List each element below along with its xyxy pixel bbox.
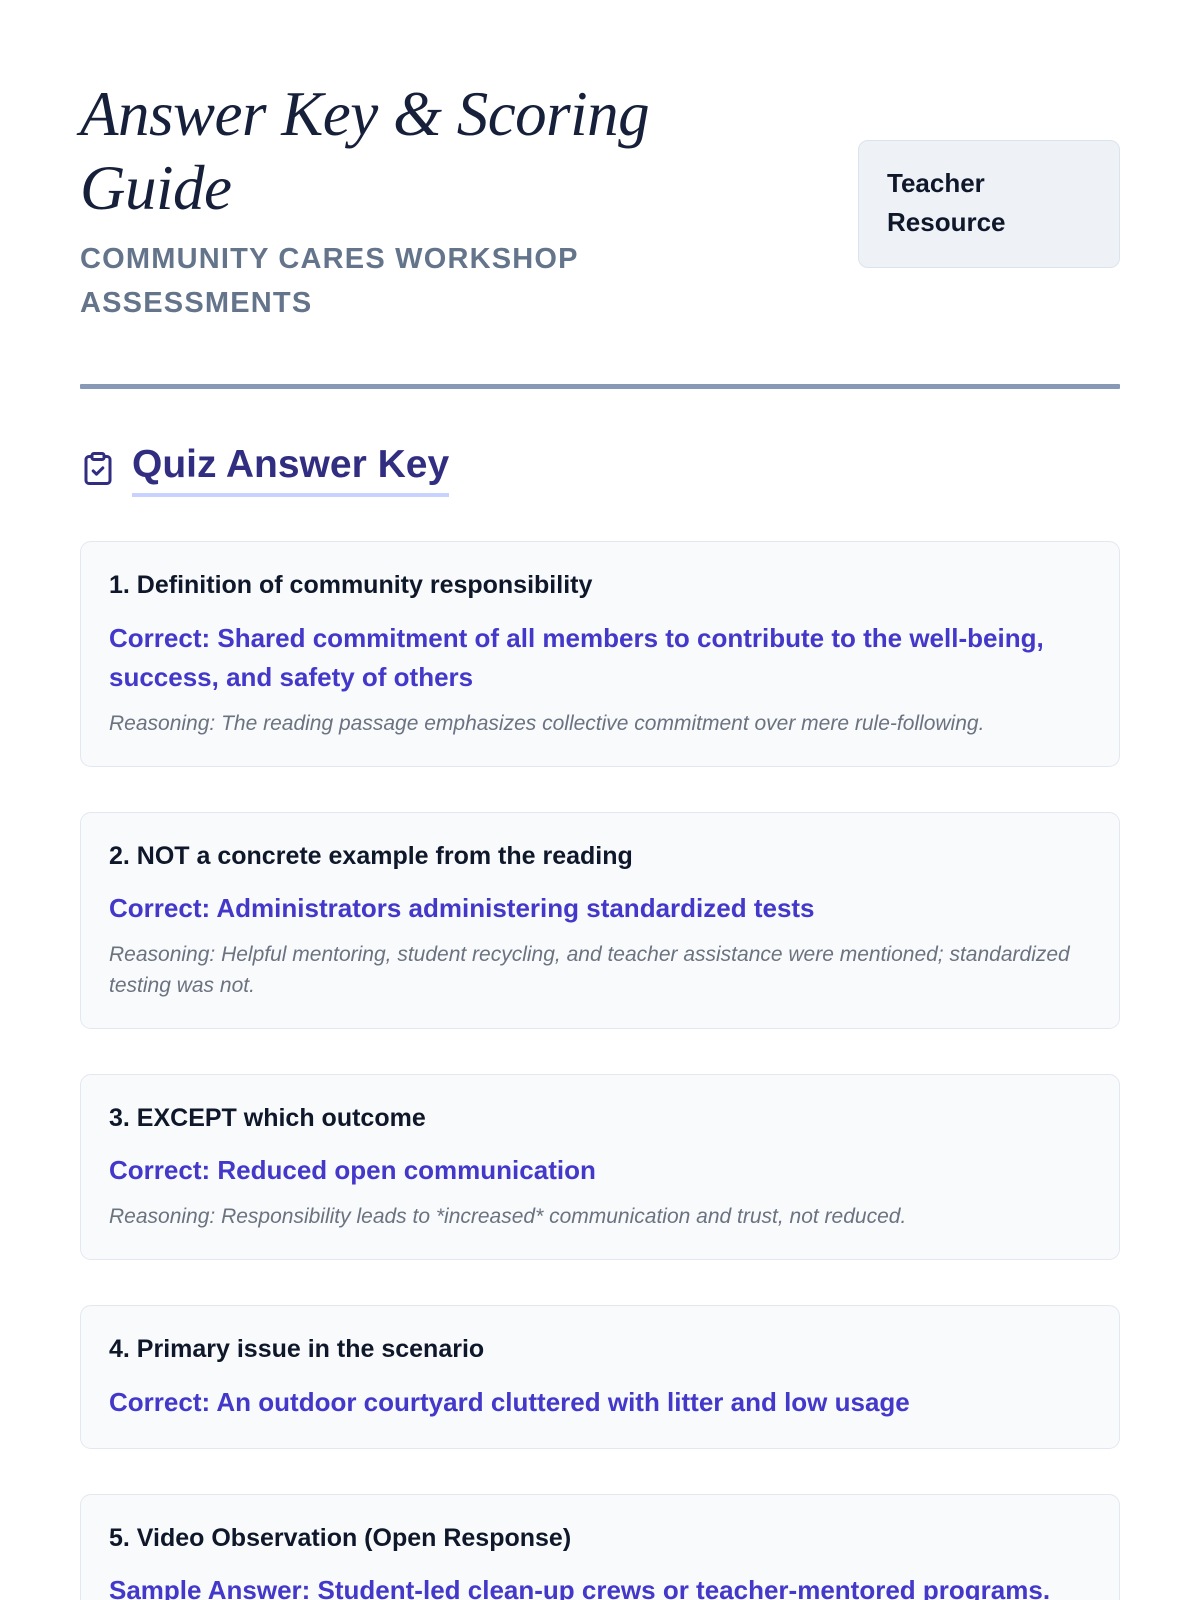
answer-text: Correct: Reduced open communication [109,1151,1091,1190]
reasoning-text: Reasoning: The reading passage emphasize… [109,709,1091,740]
answer-card: 3. EXCEPT which outcome Correct: Reduced… [80,1074,1120,1260]
answer-text: Correct: An outdoor courtyard cluttered … [109,1383,1091,1422]
document-page: Answer Key & Scoring Guide Community Car… [0,0,1200,1600]
header-text-block: Answer Key & Scoring Guide Community Car… [80,78,780,326]
question-text: 5. Video Observation (Open Response) [109,1522,1091,1555]
answer-card: 4. Primary issue in the scenario Correct… [80,1305,1120,1449]
reasoning-text: Reasoning: Helpful mentoring, student re… [109,940,1091,1002]
question-text: 1. Definition of community responsibilit… [109,569,1091,602]
answer-card: 5. Video Observation (Open Response) Sam… [80,1494,1120,1600]
question-text: 2. NOT a concrete example from the readi… [109,840,1091,873]
answer-text: Correct: Administrators administering st… [109,889,1091,928]
answer-key-list: 1. Definition of community responsibilit… [80,541,1120,1600]
clipboard-check-icon [80,450,116,490]
answer-card: 2. NOT a concrete example from the readi… [80,812,1120,1029]
page-title: Answer Key & Scoring Guide [80,78,780,225]
question-text: 3. EXCEPT which outcome [109,1102,1091,1135]
page-subtitle: Community Cares Workshop Assessments [80,237,780,325]
question-text: 4. Primary issue in the scenario [109,1333,1091,1366]
header-divider [80,384,1120,389]
reasoning-text: Reasoning: Responsibility leads to *incr… [109,1202,1091,1233]
answer-text: Correct: Shared commitment of all member… [109,619,1091,697]
document-header: Answer Key & Scoring Guide Community Car… [80,78,1120,326]
answer-card: 1. Definition of community responsibilit… [80,541,1120,766]
section-header: Quiz Answer Key [80,443,1120,498]
section-heading: Quiz Answer Key [132,443,449,498]
answer-text: Sample Answer: Student-led clean-up crew… [109,1571,1091,1600]
status-badge: Teacher Resource [858,140,1120,268]
